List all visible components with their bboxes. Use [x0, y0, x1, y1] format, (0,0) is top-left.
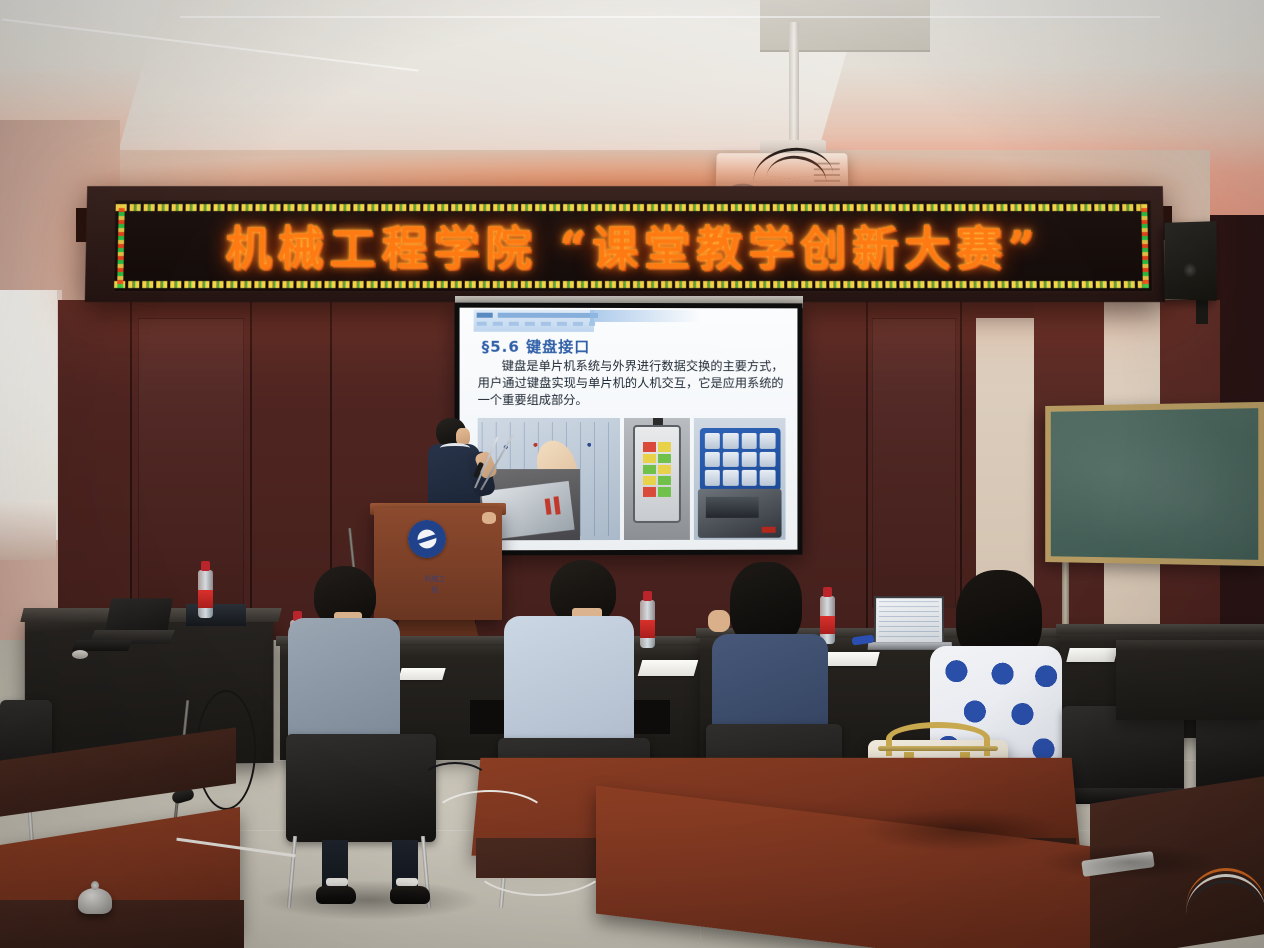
bottle-label: [640, 620, 655, 638]
slide-title: §5.6 键盘接口: [482, 336, 591, 357]
powerpoint-toolbar: [474, 310, 594, 332]
ceiling-vent: [760, 0, 930, 52]
foreground-desk-left-front: [0, 900, 244, 948]
podium-front-text: 机械工程: [422, 574, 448, 596]
left-window-sill: [0, 500, 56, 560]
floor-cable: [420, 762, 490, 802]
paper-sheet: [398, 668, 445, 680]
presenter-hand: [482, 512, 496, 524]
led-banner-housing: 机械工程学院 “课堂教学创新大赛”: [85, 186, 1165, 302]
audience-laptop-screen[interactable]: [874, 596, 944, 642]
paper-sheet: [1066, 648, 1117, 662]
paper-sheet: [824, 652, 879, 666]
water-bottle: [640, 600, 655, 648]
chalk-smudges: [1051, 408, 1258, 560]
panel-seam: [866, 300, 868, 640]
slide-photo-handheld-remote-control: [624, 418, 690, 540]
laptop-screen-content: [879, 601, 939, 639]
speaker-cone-icon: [1184, 263, 1197, 277]
handbag-zipper: [878, 746, 998, 751]
cable-bundle: [1186, 868, 1264, 908]
audience-desk-top: [1056, 624, 1264, 634]
slide-body-text: 键盘是单片机系统与外界进行数据交换的主要方式，用户通过键盘实现与单片机的人机交互…: [478, 358, 784, 409]
blue-matrix-keypad: [700, 428, 780, 491]
console-display: [706, 496, 758, 518]
university-emblem-icon: [408, 520, 446, 558]
toolbar-block: [477, 322, 595, 326]
water-bottle: [198, 570, 213, 618]
right-side-desk: [1116, 640, 1264, 720]
powerpoint-toolbar-fade: [590, 310, 700, 322]
led-dot-border-bottom: [114, 281, 1152, 288]
panel-seam: [130, 300, 132, 640]
wall-speaker: [1165, 221, 1217, 301]
classroom-scene: 机械工程学院 “课堂教学创新大赛” §5.6 键盘接口 键盘是单片机系统与外界进…: [0, 0, 1264, 948]
presenter-collar: [440, 443, 470, 453]
projection-screen: §5.6 键盘接口 键盘是单片机系统与外界进行数据交换的主要方式，用户通过键盘实…: [455, 303, 803, 556]
projected-slide: §5.6 键盘接口 键盘是单片机系统与外界进行数据交换的主要方式，用户通过键盘实…: [460, 308, 798, 551]
console-laptop-screen: [105, 598, 173, 633]
red-indicator: [553, 496, 560, 515]
led-banner-text: 机械工程学院 “课堂教学创新大赛”: [114, 212, 1151, 278]
toolbar-block: [498, 313, 598, 318]
bottle-label: [820, 616, 835, 634]
shoe: [390, 886, 430, 904]
led-banner-panel: 机械工程学院 “课堂教学创新大赛”: [113, 200, 1153, 292]
led-dot-border-top: [116, 204, 1151, 211]
panel-seam: [250, 300, 252, 640]
console-red-button: [761, 526, 775, 532]
slide-photo-matrix-keypad-and-console: [694, 418, 785, 540]
sock: [396, 878, 418, 886]
chair-backrest: [286, 734, 436, 842]
lectern-podium: 机械工程: [374, 508, 502, 620]
remote-body: [633, 425, 681, 523]
remote-keypad: [643, 442, 671, 496]
ceiling-panel: [118, 0, 861, 150]
service-bell[interactable]: [78, 888, 112, 914]
equipment-console: [698, 489, 782, 538]
projector-mount-pole: [789, 22, 799, 144]
console-cable-box: [186, 604, 246, 626]
floor-cable: [470, 826, 610, 896]
slide-photo-row: [478, 418, 786, 540]
green-chalkboard: [1045, 402, 1264, 566]
wall-panel: [138, 318, 244, 608]
console-mouse: [72, 650, 88, 659]
toolbar-block: [477, 313, 493, 318]
sock: [326, 878, 348, 886]
ceiling-seam: [180, 16, 1160, 18]
bottle-label: [198, 590, 213, 608]
paper-sheet: [638, 660, 699, 676]
shoe: [316, 886, 356, 904]
attendee-hand: [708, 610, 730, 632]
red-indicator: [544, 498, 551, 515]
wall-panel: [872, 318, 956, 608]
